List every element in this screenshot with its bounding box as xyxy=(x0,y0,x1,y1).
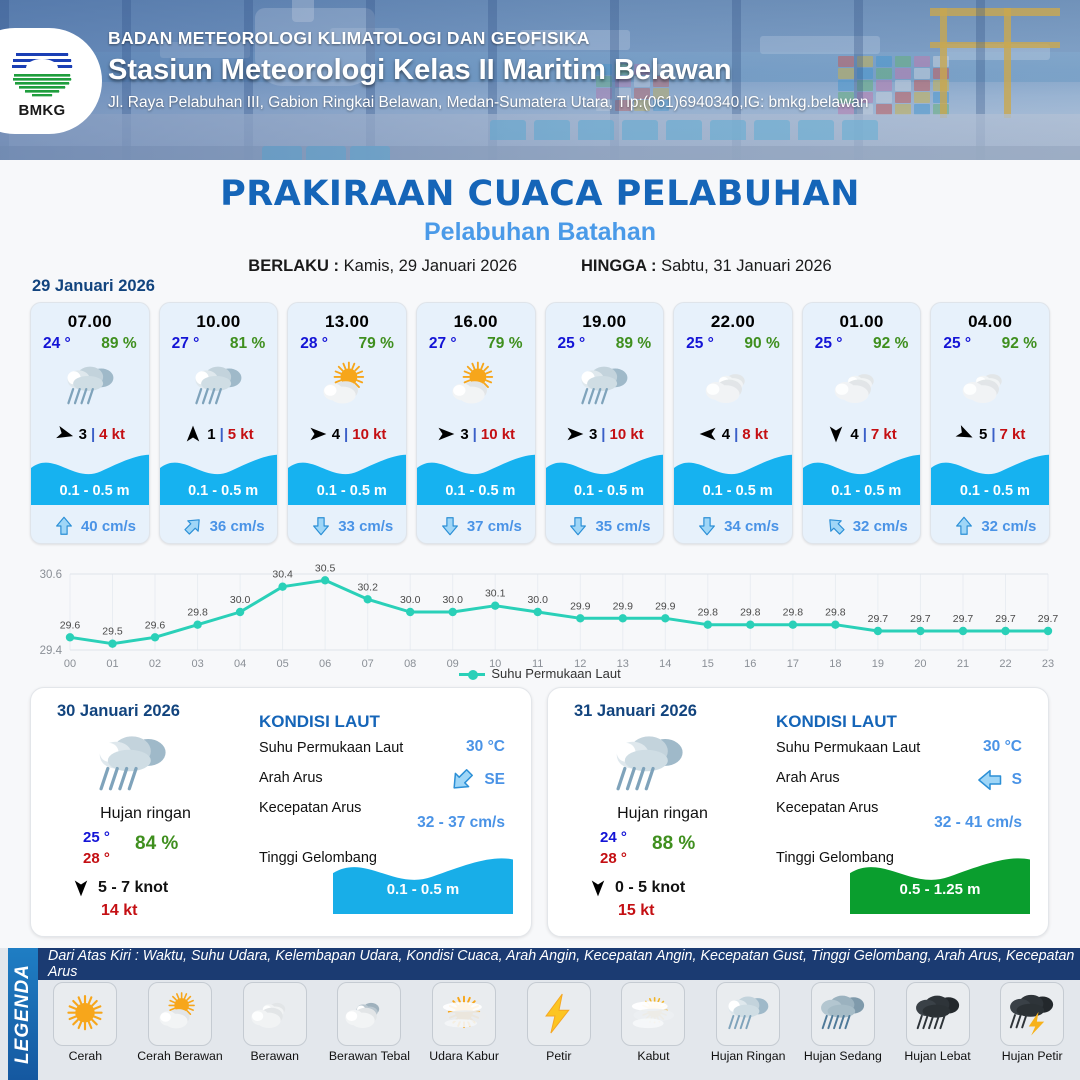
valid-until: HINGGA : Sabtu, 31 Januari 2026 xyxy=(581,257,832,276)
weather-icon-hujan-ringan xyxy=(722,989,774,1038)
weather-icon-kabut xyxy=(627,989,679,1038)
chart-point-label: 29.8 xyxy=(825,607,846,619)
card-humidity: 92 % xyxy=(1002,335,1037,353)
card-current-speed: 35 cm/s xyxy=(595,518,650,535)
page-header: BMKG BADAN METEOROLOGI KLIMATOLOGI DAN G… xyxy=(0,0,1080,160)
panel-row-dir-label: Arah Arus xyxy=(259,770,323,786)
card-time: 04.00 xyxy=(931,303,1049,332)
chart-y-tick: 30.6 xyxy=(40,569,62,581)
legend-icon-tile xyxy=(621,982,685,1046)
card-weather-icon xyxy=(931,355,1049,417)
panel-gust: 14 kt xyxy=(101,902,137,920)
weather-icon-hujan-petir xyxy=(1006,989,1058,1038)
legend-icon-tile xyxy=(243,982,307,1046)
wind-direction-arrow xyxy=(698,424,718,444)
card-wave-height: 0.1 - 0.5 m xyxy=(31,483,150,499)
panel-current-direction-text: SE xyxy=(484,771,505,789)
weather-icon-hujan-ringan xyxy=(188,358,248,415)
legend-item: Berawan Tebal xyxy=(322,982,417,1080)
card-current: 35 cm/s xyxy=(546,515,665,537)
wind-direction-arrow xyxy=(955,424,975,444)
chart-point xyxy=(449,608,457,616)
chart-legend: Suhu Permukaan Laut xyxy=(0,666,1080,681)
legend-icon-tile xyxy=(148,982,212,1046)
weather-icon-hujan-ringan xyxy=(574,358,634,415)
card-current: 37 cm/s xyxy=(417,515,536,537)
panel-date: 31 Januari 2026 xyxy=(574,702,697,721)
chart-point-label: 29.6 xyxy=(145,619,166,631)
card-wave-height: 0.1 - 0.5 m xyxy=(160,483,279,499)
card-wind-speed: 10 kt xyxy=(352,426,386,443)
card-wind: 3 | 10 kt xyxy=(417,419,535,449)
day-summary-panel[interactable]: 30 Januari 2026 Hujan ringan 25 ° 28 ° 8… xyxy=(30,687,532,937)
chart-point-label: 30.2 xyxy=(357,581,378,593)
chart-point xyxy=(959,627,967,635)
card-temperature: 28 ° xyxy=(300,335,328,353)
card-wind-speed: 5 kt xyxy=(228,426,254,443)
card-wind-degree: 4 xyxy=(332,426,340,443)
card-wind: 3 | 4 kt xyxy=(31,419,149,449)
card-wind-separator: | xyxy=(220,426,224,443)
current-direction-arrow xyxy=(696,515,718,537)
station-address: Jl. Raya Pelabuhan III, Gabion Ringkai B… xyxy=(108,94,869,112)
card-current: 34 cm/s xyxy=(674,515,793,537)
current-direction-arrow xyxy=(439,515,461,537)
weather-icon-hujan-ringan xyxy=(60,358,120,415)
chart-point-label: 29.9 xyxy=(613,600,634,612)
panel-sea-title: KONDISI LAUT xyxy=(259,712,380,732)
forecast-card[interactable]: 13.00 28 ° 79 % 4 | 10 kt 0.1 - 0.5 m xyxy=(287,302,407,544)
panel-temp-min: 24 ° xyxy=(600,829,627,846)
agency-name: BADAN METEOROLOGI KLIMATOLOGI DAN GEOFIS… xyxy=(108,28,869,49)
chart-point-label: 29.8 xyxy=(698,607,719,619)
legend-item: Hujan Ringan xyxy=(701,982,796,1080)
card-wind-degree: 3 xyxy=(460,426,468,443)
chart-point xyxy=(831,621,839,629)
legend-icon-tile xyxy=(337,982,401,1046)
card-wind-separator: | xyxy=(991,426,995,443)
weather-icon-hujan-sedang xyxy=(817,989,869,1038)
card-wind-separator: | xyxy=(601,426,605,443)
card-wind: 5 | 7 kt xyxy=(931,419,1049,449)
legend-icon-tile xyxy=(1000,982,1064,1046)
card-temp-humidity: 27 ° 79 % xyxy=(417,332,535,353)
valid-until-label: HINGGA : xyxy=(581,257,656,275)
card-current: 40 cm/s xyxy=(31,515,150,537)
card-time: 07.00 xyxy=(31,303,149,332)
current-direction-arrow xyxy=(448,766,476,794)
card-wind: 3 | 10 kt xyxy=(546,419,664,449)
chart-point-label: 30.1 xyxy=(485,588,506,600)
chart-point-label: 29.7 xyxy=(1038,613,1059,625)
chart-point xyxy=(491,602,499,610)
chart-point xyxy=(66,633,74,641)
chart-point xyxy=(321,576,329,584)
weather-icon-hujan-lebat xyxy=(912,989,964,1038)
panel-sst-value: 30 °C xyxy=(983,738,1022,756)
card-temp-humidity: 24 ° 89 % xyxy=(31,332,149,353)
card-weather-icon xyxy=(803,355,921,417)
chart-point-label: 30.0 xyxy=(527,594,548,606)
forecast-date-label: 29 Januari 2026 xyxy=(32,277,155,296)
legend-icon-tile xyxy=(716,982,780,1046)
forecast-card[interactable]: 10.00 27 ° 81 % 1 | 5 kt 0 xyxy=(159,302,279,544)
card-wind-degree: 4 xyxy=(722,426,730,443)
legend-icon-tile xyxy=(432,982,496,1046)
card-current: 32 cm/s xyxy=(803,515,922,537)
legend-item: Udara Kabur xyxy=(417,982,512,1080)
legend-icon-tile xyxy=(811,982,875,1046)
chart-point-label: 30.5 xyxy=(315,562,336,574)
wind-direction-arrow xyxy=(565,424,585,444)
weather-icon-berawan xyxy=(703,358,763,415)
current-direction-arrow xyxy=(182,515,204,537)
card-humidity: 89 % xyxy=(101,335,136,353)
card-wind-speed: 10 kt xyxy=(609,426,643,443)
panel-wind: 5 - 7 knot xyxy=(71,878,168,898)
card-wind-separator: | xyxy=(473,426,477,443)
card-weather-icon xyxy=(674,355,792,417)
wind-direction-arrow xyxy=(55,424,75,444)
card-current-speed: 34 cm/s xyxy=(724,518,779,535)
legend-note-strip: Dari Atas Kiri : Waktu, Suhu Udara, Kele… xyxy=(38,948,1080,980)
legend-item: Cerah Berawan xyxy=(133,982,228,1080)
forecast-card[interactable]: 07.00 24 ° 89 % 3 | 4 kt 0 xyxy=(30,302,150,544)
chart-point xyxy=(661,614,669,622)
chart-point-label: 29.9 xyxy=(655,600,676,612)
card-wind-degree: 1 xyxy=(207,426,215,443)
chart-point xyxy=(746,621,754,629)
page-title: PRAKIRAAN CUACA PELABUHAN xyxy=(0,174,1080,214)
panel-sst-value: 30 °C xyxy=(466,738,505,756)
panel-weather-icon xyxy=(89,724,175,810)
panel-gust: 15 kt xyxy=(618,902,654,920)
panel-condition: Hujan ringan xyxy=(570,805,755,823)
header-text-block: BADAN METEOROLOGI KLIMATOLOGI DAN GEOFIS… xyxy=(108,28,869,112)
card-time: 16.00 xyxy=(417,303,535,332)
chart-point xyxy=(534,608,542,616)
panel-wave-height: 0.1 - 0.5 m xyxy=(333,881,513,898)
card-current-speed: 32 cm/s xyxy=(981,518,1036,535)
legend-item-label: Hujan Ringan xyxy=(701,1049,796,1063)
card-time: 10.00 xyxy=(160,303,278,332)
card-weather-icon xyxy=(546,355,664,417)
card-humidity: 79 % xyxy=(359,335,394,353)
chart-point-label: 29.6 xyxy=(60,619,81,631)
panel-wind-speed: 5 - 7 knot xyxy=(98,879,168,897)
legend-item-label: Cerah Berawan xyxy=(133,1049,228,1063)
card-humidity: 89 % xyxy=(616,335,651,353)
card-wind-degree: 5 xyxy=(979,426,987,443)
panel-row-sst-label: Suhu Permukaan Laut xyxy=(776,740,920,756)
card-temperature: 25 ° xyxy=(686,335,714,353)
wind-direction-arrow xyxy=(71,878,91,898)
legend-note: Dari Atas Kiri : Waktu, Suhu Udara, Kele… xyxy=(48,948,1080,980)
current-direction-arrow xyxy=(53,515,75,537)
card-humidity: 81 % xyxy=(230,335,265,353)
card-wind: 4 | 8 kt xyxy=(674,419,792,449)
weather-icon-hujan-ringan xyxy=(89,724,175,805)
legend-icon-tile xyxy=(906,982,970,1046)
validity-row: BERLAKU : Kamis, 29 Januari 2026 HINGGA … xyxy=(0,257,1080,276)
panel-wave-height: 0.5 - 1.25 m xyxy=(850,881,1030,898)
panel-current-direction-text: S xyxy=(1012,771,1022,789)
panel-humidity: 88 % xyxy=(652,833,695,855)
panel-sea-title: KONDISI LAUT xyxy=(776,712,897,732)
panel-condition: Hujan ringan xyxy=(53,805,238,823)
panel-current-direction: S xyxy=(976,766,1022,794)
legend-item-label: Hujan Sedang xyxy=(796,1049,891,1063)
wind-direction-arrow xyxy=(436,424,456,444)
card-wave-height: 0.1 - 0.5 m xyxy=(417,483,536,499)
legend-item: Berawan xyxy=(227,982,322,1080)
panel-row-speed-label: Kecepatan Arus xyxy=(259,800,361,816)
chart-y-tick: 29.4 xyxy=(40,645,63,657)
panel-current-direction: SE xyxy=(448,766,505,794)
sst-chart: 30.6 29.4 29.629.529.629.830.030.430.530… xyxy=(22,556,1062,676)
card-wave-height: 0.1 - 0.5 m xyxy=(931,483,1050,499)
forecast-card-row: 07.00 24 ° 89 % 3 | 4 kt 0 xyxy=(30,302,1050,544)
panel-current-speed: 32 - 41 cm/s xyxy=(934,814,1022,832)
legend-item: Hujan Petir xyxy=(985,982,1080,1080)
chart-point-label: 30.4 xyxy=(272,569,293,581)
weather-icon-udara-kabur xyxy=(438,989,490,1038)
wind-direction-arrow xyxy=(826,424,846,444)
legend-item: Hujan Sedang xyxy=(796,982,891,1080)
chart-legend-label: Suhu Permukaan Laut xyxy=(491,666,620,681)
chart-point xyxy=(619,614,627,622)
day-panel-row: 30 Januari 2026 Hujan ringan 25 ° 28 ° 8… xyxy=(30,687,1050,937)
legend-side-label: LEGENDA xyxy=(12,964,34,1064)
card-temp-humidity: 25 ° 92 % xyxy=(803,332,921,353)
card-current-speed: 36 cm/s xyxy=(210,518,265,535)
forecast-card[interactable]: 19.00 25 ° 89 % 3 | 10 kt xyxy=(545,302,665,544)
legend-item-label: Cerah xyxy=(38,1049,133,1063)
current-direction-arrow xyxy=(310,515,332,537)
forecast-card[interactable]: 04.00 25 ° 92 % 5 | 7 kt xyxy=(930,302,1050,544)
card-time: 01.00 xyxy=(803,303,921,332)
card-current: 33 cm/s xyxy=(288,515,407,537)
chart-point xyxy=(916,627,924,635)
chart-point-label: 30.0 xyxy=(400,594,421,606)
bmkg-logo: BMKG xyxy=(0,28,102,134)
card-wind-degree: 4 xyxy=(850,426,858,443)
card-humidity: 92 % xyxy=(873,335,908,353)
valid-from-value: Kamis, 29 Januari 2026 xyxy=(344,257,517,275)
wind-direction-arrow xyxy=(183,424,203,444)
forecast-card[interactable]: 16.00 27 ° 79 % 3 | 10 kt 0.1 - 0.5 m xyxy=(416,302,536,544)
card-wind: 1 | 5 kt xyxy=(160,419,278,449)
card-humidity: 79 % xyxy=(487,335,522,353)
chart-point xyxy=(236,608,244,616)
card-weather-icon xyxy=(160,355,278,417)
card-temperature: 25 ° xyxy=(558,335,586,353)
weather-icon-berawan-tebal xyxy=(343,989,395,1038)
chart-point xyxy=(151,633,159,641)
current-direction-arrow xyxy=(567,515,589,537)
legend-item: Cerah xyxy=(38,982,133,1080)
chart-point xyxy=(193,621,201,629)
card-current-speed: 32 cm/s xyxy=(853,518,908,535)
card-wave-height: 0.1 - 0.5 m xyxy=(546,483,665,499)
valid-from: BERLAKU : Kamis, 29 Januari 2026 xyxy=(248,257,517,276)
panel-temp-max: 28 ° xyxy=(83,850,110,867)
card-current-speed: 40 cm/s xyxy=(81,518,136,535)
card-wind-separator: | xyxy=(344,426,348,443)
card-current-speed: 37 cm/s xyxy=(467,518,522,535)
panel-temp-max: 28 ° xyxy=(600,850,627,867)
card-current-speed: 33 cm/s xyxy=(338,518,393,535)
chart-point xyxy=(789,621,797,629)
legend-icon-tile xyxy=(53,982,117,1046)
weather-icon-berawan xyxy=(960,358,1020,415)
chart-point xyxy=(278,583,286,591)
chart-point-label: 29.7 xyxy=(910,613,931,625)
card-temp-humidity: 28 ° 79 % xyxy=(288,332,406,353)
chart-point-label: 30.0 xyxy=(442,594,463,606)
current-direction-arrow xyxy=(953,515,975,537)
card-wave-height: 0.1 - 0.5 m xyxy=(288,483,407,499)
card-time: 22.00 xyxy=(674,303,792,332)
card-temperature: 27 ° xyxy=(429,335,457,353)
legend-item-label: Udara Kabur xyxy=(417,1049,512,1063)
legend-item-label: Berawan Tebal xyxy=(322,1049,417,1063)
card-wave-height: 0.1 - 0.5 m xyxy=(674,483,793,499)
legend-item: Petir xyxy=(511,982,606,1080)
card-temperature: 27 ° xyxy=(172,335,200,353)
weather-icon-berawan xyxy=(249,989,301,1038)
card-temp-humidity: 25 ° 89 % xyxy=(546,332,664,353)
bmkg-logo-mark xyxy=(8,43,76,101)
chart-point-label: 29.7 xyxy=(995,613,1016,625)
card-wind-separator: | xyxy=(734,426,738,443)
chart-point-label: 29.7 xyxy=(868,613,889,625)
card-humidity: 90 % xyxy=(744,335,779,353)
legend-item-label: Berawan xyxy=(227,1049,322,1063)
forecast-card[interactable]: 01.00 25 ° 92 % 4 | 7 kt xyxy=(802,302,922,544)
weather-icon-cerah-berawan xyxy=(154,989,206,1038)
legend-item-label: Hujan Lebat xyxy=(890,1049,985,1063)
card-wind-speed: 7 kt xyxy=(871,426,897,443)
panel-date: 30 Januari 2026 xyxy=(57,702,180,721)
weather-icon-petir xyxy=(533,989,585,1038)
card-wind-speed: 4 kt xyxy=(99,426,125,443)
card-wind-separator: | xyxy=(91,426,95,443)
card-wind: 4 | 7 kt xyxy=(803,419,921,449)
chart-legend-marker xyxy=(459,673,485,676)
panel-weather-icon xyxy=(606,724,692,810)
weather-icon-cerah-berawan xyxy=(446,358,506,415)
chart-point-label: 29.5 xyxy=(102,626,123,638)
card-wave-height: 0.1 - 0.5 m xyxy=(803,483,922,499)
panel-humidity: 84 % xyxy=(135,833,178,855)
card-current: 32 cm/s xyxy=(931,515,1050,537)
weather-icon-cerah-berawan xyxy=(317,358,377,415)
card-time: 13.00 xyxy=(288,303,406,332)
legend-icon-row: Cerah Cerah Berawan Berawan xyxy=(38,982,1080,1080)
card-temp-humidity: 25 ° 92 % xyxy=(931,332,1049,353)
valid-until-value: Sabtu, 31 Januari 2026 xyxy=(661,257,832,275)
panel-current-speed: 32 - 37 cm/s xyxy=(417,814,505,832)
wind-direction-arrow xyxy=(308,424,328,444)
chart-canvas: 30.6 29.4 29.629.529.629.830.030.430.530… xyxy=(22,556,1062,676)
card-current: 36 cm/s xyxy=(160,515,279,537)
card-wind-degree: 3 xyxy=(79,426,87,443)
chart-point xyxy=(1044,627,1052,635)
current-direction-arrow xyxy=(825,515,847,537)
chart-point-label: 29.7 xyxy=(953,613,974,625)
legend-item-label: Petir xyxy=(511,1049,606,1063)
card-temperature: 25 ° xyxy=(815,335,843,353)
day-summary-panel[interactable]: 31 Januari 2026 Hujan ringan 24 ° 28 ° 8… xyxy=(547,687,1049,937)
chart-point xyxy=(704,621,712,629)
card-weather-icon xyxy=(288,355,406,417)
legend-side-bar: LEGENDA xyxy=(8,948,38,1080)
weather-icon-hujan-ringan xyxy=(606,724,692,805)
legend-item-label: Kabut xyxy=(606,1049,701,1063)
panel-wind-speed: 0 - 5 knot xyxy=(615,879,685,897)
card-temp-humidity: 27 ° 81 % xyxy=(160,332,278,353)
chart-point xyxy=(576,614,584,622)
card-weather-icon xyxy=(31,355,149,417)
legend-area: LEGENDA Dari Atas Kiri : Waktu, Suhu Uda… xyxy=(0,948,1080,1080)
panel-row-dir-label: Arah Arus xyxy=(776,770,840,786)
bmkg-logo-text: BMKG xyxy=(3,102,81,119)
card-wind-separator: | xyxy=(863,426,867,443)
panel-row-speed-label: Kecepatan Arus xyxy=(776,800,878,816)
card-temperature: 25 ° xyxy=(943,335,971,353)
chart-point xyxy=(364,595,372,603)
weather-icon-berawan xyxy=(832,358,892,415)
legend-icon-tile xyxy=(527,982,591,1046)
chart-point-label: 29.9 xyxy=(570,600,591,612)
card-wind-speed: 10 kt xyxy=(481,426,515,443)
panel-wind: 0 - 5 knot xyxy=(588,878,685,898)
card-temperature: 24 ° xyxy=(43,335,71,353)
valid-from-label: BERLAKU : xyxy=(248,257,339,275)
panel-temp-min: 25 ° xyxy=(83,829,110,846)
chart-point-label: 29.8 xyxy=(783,607,804,619)
wind-direction-arrow xyxy=(588,878,608,898)
chart-point-label: 30.0 xyxy=(230,594,251,606)
legend-item-label: Hujan Petir xyxy=(985,1049,1080,1063)
current-direction-arrow xyxy=(976,766,1004,794)
card-wind: 4 | 10 kt xyxy=(288,419,406,449)
chart-point-label: 29.8 xyxy=(740,607,761,619)
chart-point xyxy=(874,627,882,635)
legend-item: Kabut xyxy=(606,982,701,1080)
station-name: Stasiun Meteorologi Kelas II Maritim Bel… xyxy=(108,54,869,87)
card-wind-speed: 7 kt xyxy=(1000,426,1026,443)
forecast-card[interactable]: 22.00 25 ° 90 % 4 | 8 kt xyxy=(673,302,793,544)
card-time: 19.00 xyxy=(546,303,664,332)
card-temp-humidity: 25 ° 90 % xyxy=(674,332,792,353)
port-name: Pelabuhan Batahan xyxy=(0,218,1080,247)
card-wind-degree: 3 xyxy=(589,426,597,443)
panel-row-sst-label: Suhu Permukaan Laut xyxy=(259,740,403,756)
chart-point xyxy=(406,608,414,616)
weather-icon-cerah xyxy=(59,989,111,1038)
chart-point xyxy=(1001,627,1009,635)
card-wind-speed: 8 kt xyxy=(742,426,768,443)
legend-item: Hujan Lebat xyxy=(890,982,985,1080)
title-block: PRAKIRAAN CUACA PELABUHAN Pelabuhan Bata… xyxy=(0,174,1080,276)
chart-point xyxy=(108,640,116,648)
card-weather-icon xyxy=(417,355,535,417)
chart-point-label: 29.8 xyxy=(187,607,208,619)
